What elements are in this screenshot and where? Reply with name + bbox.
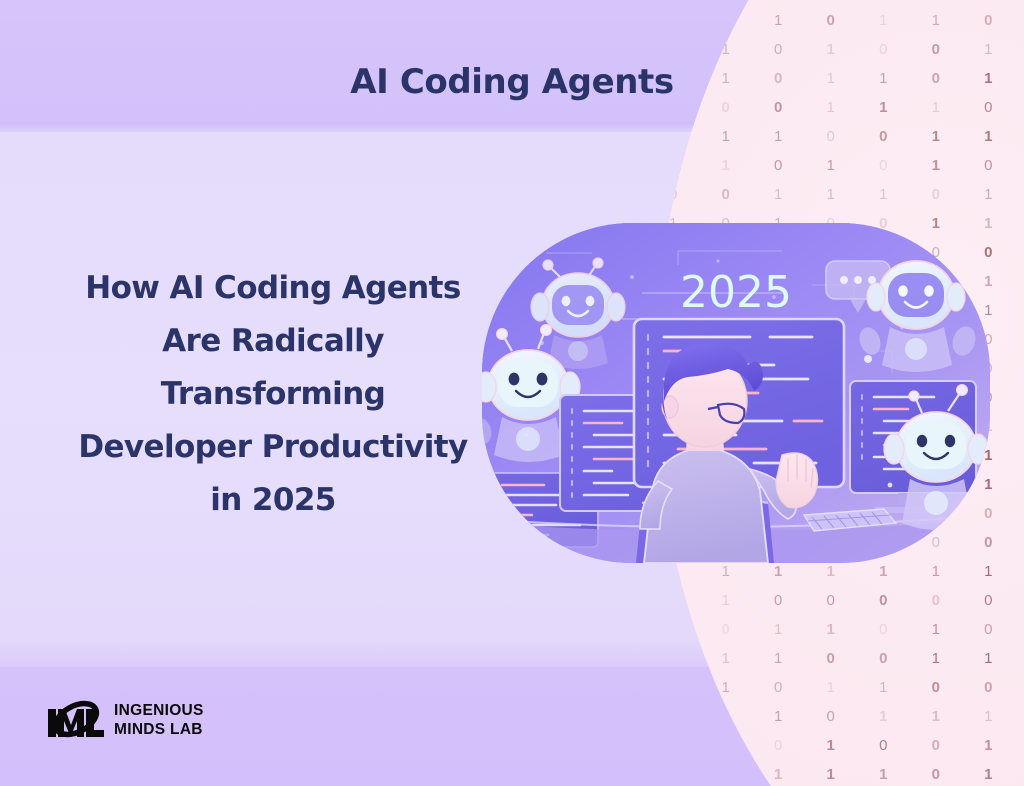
illustration-artwork: 2025 — [482, 223, 990, 563]
headline: How AI Coding Agents Are Radically Trans… — [38, 262, 508, 527]
binary-row: 1 0 1 1 0 1 0 1 0 1 — [669, 615, 1024, 644]
headline-line: Developer Productivity — [38, 421, 508, 474]
hero-illustration: 2025 — [482, 223, 990, 563]
binary-row: 1 0 0 1 0 0 1 1 0 0 — [669, 731, 1024, 760]
brand-line-2: MINDS LAB — [114, 722, 204, 738]
binary-row: 0 0 1 0 1 1 1 0 1 1 — [669, 702, 1024, 731]
binary-row: 0 1 1 1 1 0 1 0 1 1 — [669, 760, 1024, 786]
page-title: AI Coding Agents — [0, 62, 1024, 102]
headline-line: Transforming — [38, 368, 508, 421]
binary-row: 0 0 1 1 1 0 1 1 0 1 — [669, 180, 1024, 209]
binary-row: 0 1 1 0 0 1 1 0 1 0 — [669, 644, 1024, 673]
binary-row: 1 1 0 1 1 0 0 1 0 1 — [669, 673, 1024, 702]
binary-row: 0 1 0 0 0 0 0 0 0 0 — [669, 586, 1024, 615]
illustration-year-label: 2025 — [680, 267, 792, 318]
binary-row: 0 1 1 0 0 1 1 0 1 1 — [669, 122, 1024, 151]
headline-line: Are Radically — [38, 315, 508, 368]
binary-row: 1 1 0 1 0 1 0 1 1 0 — [669, 151, 1024, 180]
brand-logo[interactable]: INGENIOUS MINDS LAB — [44, 692, 204, 748]
raised-hand — [776, 453, 818, 508]
headline-line: in 2025 — [38, 474, 508, 527]
brand-logo-text: INGENIOUS MINDS LAB — [114, 703, 204, 737]
binary-row: 0 0 1 0 1 1 0 0 0 1 — [669, 6, 1024, 35]
binary-row: 1 1 0 1 0 0 1 1 1 0 — [669, 35, 1024, 64]
poster-canvas: 1 1 0 0 1 1 0 1 1 0 1 1 0 1 1 1 1 0 1 1 … — [0, 0, 1024, 786]
headline-line: How AI Coding Agents — [38, 262, 508, 315]
iml-monogram-icon — [44, 695, 106, 745]
brand-line-1: INGENIOUS — [114, 703, 204, 719]
